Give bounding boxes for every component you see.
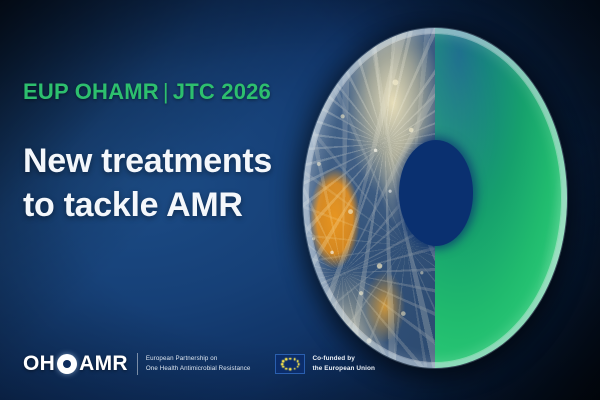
logo-divider	[137, 353, 138, 375]
ohamr-text-oh: OH	[23, 352, 55, 376]
eu-star	[283, 361, 285, 363]
ohamr-tagline-line-2: One Health Antimicrobial Resistance	[146, 364, 251, 374]
eyebrow-program: EUP OHAMR	[23, 79, 159, 104]
eu-star	[282, 363, 284, 365]
eu-flag-icon	[275, 354, 305, 374]
eu-text-line-1: Co-funded by	[312, 354, 375, 364]
ring-icon	[57, 354, 77, 374]
promo-banner: EUP OHAMR|JTC 2026 New treatments to tac…	[0, 0, 600, 400]
ohamr-wordmark: OH AMR	[23, 352, 128, 376]
eu-star	[298, 363, 300, 365]
eu-star	[297, 366, 299, 368]
eu-text-line-2: the European Union	[312, 364, 375, 374]
footer-logos: OH AMR European Partnership on One Healt…	[23, 352, 375, 376]
ohamr-text-amr: AMR	[79, 352, 128, 376]
ohamr-tagline-line-1: European Partnership on	[146, 354, 251, 364]
eu-star	[283, 366, 285, 368]
eu-star	[294, 359, 296, 361]
eu-star	[294, 368, 296, 370]
headline-line-1: New treatments	[23, 140, 323, 184]
eu-star	[290, 358, 292, 360]
ohamr-logo: OH AMR European Partnership on One Healt…	[23, 352, 250, 376]
eu-cofunding-badge: Co-funded by the European Union	[275, 354, 375, 374]
eyebrow-line: EUP OHAMR|JTC 2026	[23, 79, 271, 105]
petri-dish-image	[303, 28, 567, 368]
eu-star	[290, 368, 292, 370]
eu-star	[286, 359, 288, 361]
headline-line-2: to tackle AMR	[23, 184, 323, 228]
eu-star	[297, 361, 299, 363]
eyebrow-call: JTC 2026	[173, 79, 271, 104]
eu-star	[286, 368, 288, 370]
petri-dish-center-hole	[399, 140, 473, 245]
page-title: New treatments to tackle AMR	[23, 140, 323, 227]
eu-cofunding-text: Co-funded by the European Union	[312, 354, 375, 374]
eyebrow-separator: |	[159, 79, 173, 104]
ohamr-tagline: European Partnership on One Health Antim…	[146, 354, 251, 373]
